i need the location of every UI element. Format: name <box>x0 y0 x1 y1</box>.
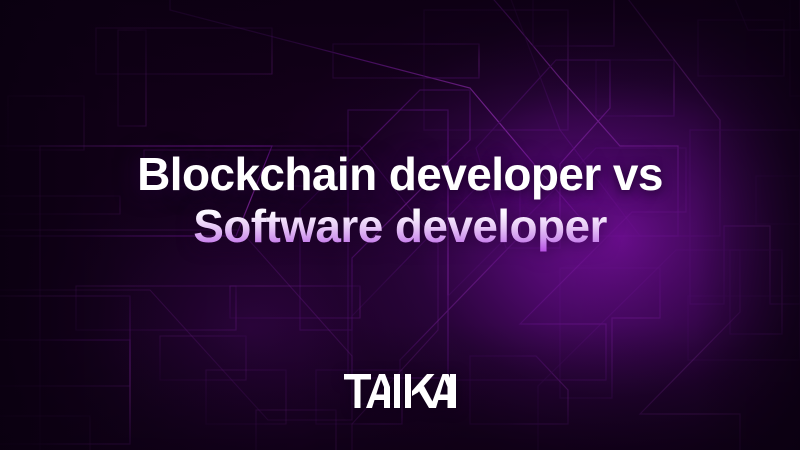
title-line-2: Software developer <box>0 200 800 252</box>
taikai-logo-icon <box>344 374 456 408</box>
title-line-1: Blockchain developer vs <box>0 148 800 200</box>
page-title: Blockchain developer vs Software develop… <box>0 148 800 253</box>
taikai-logo <box>0 374 800 408</box>
promo-banner: Blockchain developer vs Software develop… <box>0 0 800 450</box>
